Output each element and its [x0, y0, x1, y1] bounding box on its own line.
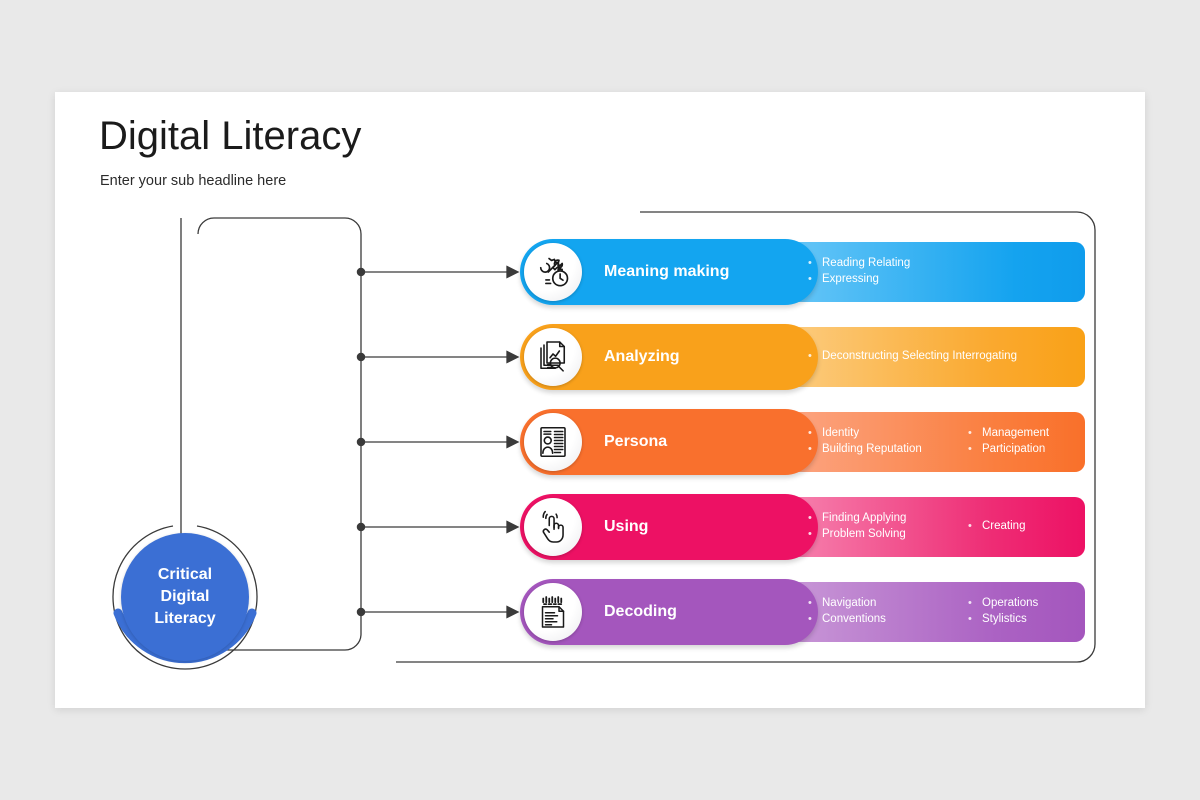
central-hub[interactable]: Critical Digital Literacy: [105, 517, 265, 677]
bullet-text: Identity: [822, 426, 859, 441]
bullet-dot-icon: •: [808, 272, 822, 288]
bullet-text: Navigation: [822, 596, 876, 611]
bullet-dot-icon: •: [968, 426, 982, 442]
row-pill[interactable]: Analyzing: [520, 324, 818, 390]
bullet-dot-icon: •: [808, 527, 822, 543]
row-bullets: •Reading Relating •Expressing: [808, 239, 968, 305]
list-item: •Creating: [968, 519, 1118, 535]
row-label: Analyzing: [604, 324, 680, 390]
list-item: •Building Reputation: [808, 442, 968, 458]
list-item: •Expressing: [808, 272, 968, 288]
row-bullets: •Deconstructing Selecting Interrogating: [808, 324, 1108, 390]
branch-arrows: [357, 267, 518, 618]
row-bullets: •Navigation •Conventions •Operations •St…: [808, 579, 1118, 645]
bullet-dot-icon: •: [968, 519, 982, 535]
list-item: •Identity: [808, 426, 968, 442]
row-label: Decoding: [604, 579, 677, 645]
bullet-text: Reading Relating: [822, 256, 910, 271]
list-item: •Finding Applying: [808, 511, 968, 527]
bullet-text: Management: [982, 426, 1049, 441]
hub-text-line-3: Literacy: [154, 610, 215, 627]
row-pill[interactable]: Decoding: [520, 579, 818, 645]
bullet-column: •Deconstructing Selecting Interrogating: [808, 349, 1108, 365]
row-bullets: •Finding Applying •Problem Solving •Crea…: [808, 494, 1118, 560]
bullet-text: Expressing: [822, 272, 879, 287]
bullet-column: •Operations •Stylistics: [968, 596, 1118, 628]
hub-text: Critical Digital Literacy: [154, 564, 215, 630]
list-item: •Operations: [968, 596, 1118, 612]
hub-label: Critical Digital Literacy: [121, 533, 249, 661]
row-meaning-making[interactable]: Meaning making •Reading Relating •Expres…: [520, 239, 1085, 305]
tap-hand-icon: [524, 498, 582, 556]
bullet-column: •Finding Applying •Problem Solving: [808, 511, 968, 543]
row-analyzing[interactable]: Analyzing •Deconstructing Selecting Inte…: [520, 324, 1085, 390]
row-pill[interactable]: Using: [520, 494, 818, 560]
hub-text-line-2: Digital: [161, 588, 210, 605]
bullet-column: •Navigation •Conventions: [808, 596, 968, 628]
bullet-column: •Management •Participation: [968, 426, 1118, 458]
list-item: •Problem Solving: [808, 527, 968, 543]
bullet-dot-icon: •: [808, 596, 822, 612]
profile-card-icon: [524, 413, 582, 471]
bullet-dot-icon: •: [808, 442, 822, 458]
row-bullets: •Identity •Building Reputation •Manageme…: [808, 409, 1118, 475]
list-item: •Reading Relating: [808, 256, 968, 272]
bullet-text: Participation: [982, 442, 1045, 457]
bullet-dot-icon: •: [808, 426, 822, 442]
row-pill[interactable]: Meaning making: [520, 239, 818, 305]
bullet-text: Building Reputation: [822, 442, 922, 457]
row-decoding[interactable]: Decoding •Navigation •Conventions •Opera…: [520, 579, 1085, 645]
bullet-dot-icon: •: [808, 612, 822, 628]
bullet-dot-icon: •: [808, 349, 822, 365]
list-item: •Deconstructing Selecting Interrogating: [808, 349, 1108, 365]
row-using[interactable]: Using •Finding Applying •Problem Solving…: [520, 494, 1085, 560]
hub-text-line-1: Critical: [158, 566, 212, 583]
binary-document-icon: [524, 583, 582, 641]
bullet-text: Finding Applying: [822, 511, 906, 526]
bullet-column: •Reading Relating •Expressing: [808, 256, 968, 288]
bullet-dot-icon: •: [968, 612, 982, 628]
bullet-text: Deconstructing Selecting Interrogating: [822, 349, 1017, 364]
row-persona[interactable]: Persona •Identity •Building Reputation •…: [520, 409, 1085, 475]
bullet-dot-icon: •: [968, 442, 982, 458]
bullet-dot-icon: •: [808, 256, 822, 272]
list-item: •Conventions: [808, 612, 968, 628]
list-item: •Participation: [968, 442, 1118, 458]
bullet-text: Conventions: [822, 612, 886, 627]
bullet-text: Operations: [982, 596, 1038, 611]
page-subtitle: Enter your sub headline here: [100, 173, 286, 189]
bullet-dot-icon: •: [968, 596, 982, 612]
row-label: Persona: [604, 409, 667, 475]
bullet-text: Stylistics: [982, 612, 1027, 627]
list-item: •Stylistics: [968, 612, 1118, 628]
bullet-column: •Identity •Building Reputation: [808, 426, 968, 458]
gear-wrench-stopwatch-icon: [524, 243, 582, 301]
bullet-text: Problem Solving: [822, 527, 906, 542]
document-magnifier-icon: [524, 328, 582, 386]
row-label: Using: [604, 494, 648, 560]
bullet-column: •Creating: [968, 519, 1118, 535]
list-item: •Navigation: [808, 596, 968, 612]
list-item: •Management: [968, 426, 1118, 442]
page-title: Digital Literacy: [99, 114, 361, 159]
slide-canvas: Digital Literacy Enter your sub headline…: [55, 92, 1145, 708]
bullet-text: Creating: [982, 519, 1025, 534]
bullet-dot-icon: •: [808, 511, 822, 527]
row-label: Meaning making: [604, 239, 729, 305]
row-pill[interactable]: Persona: [520, 409, 818, 475]
